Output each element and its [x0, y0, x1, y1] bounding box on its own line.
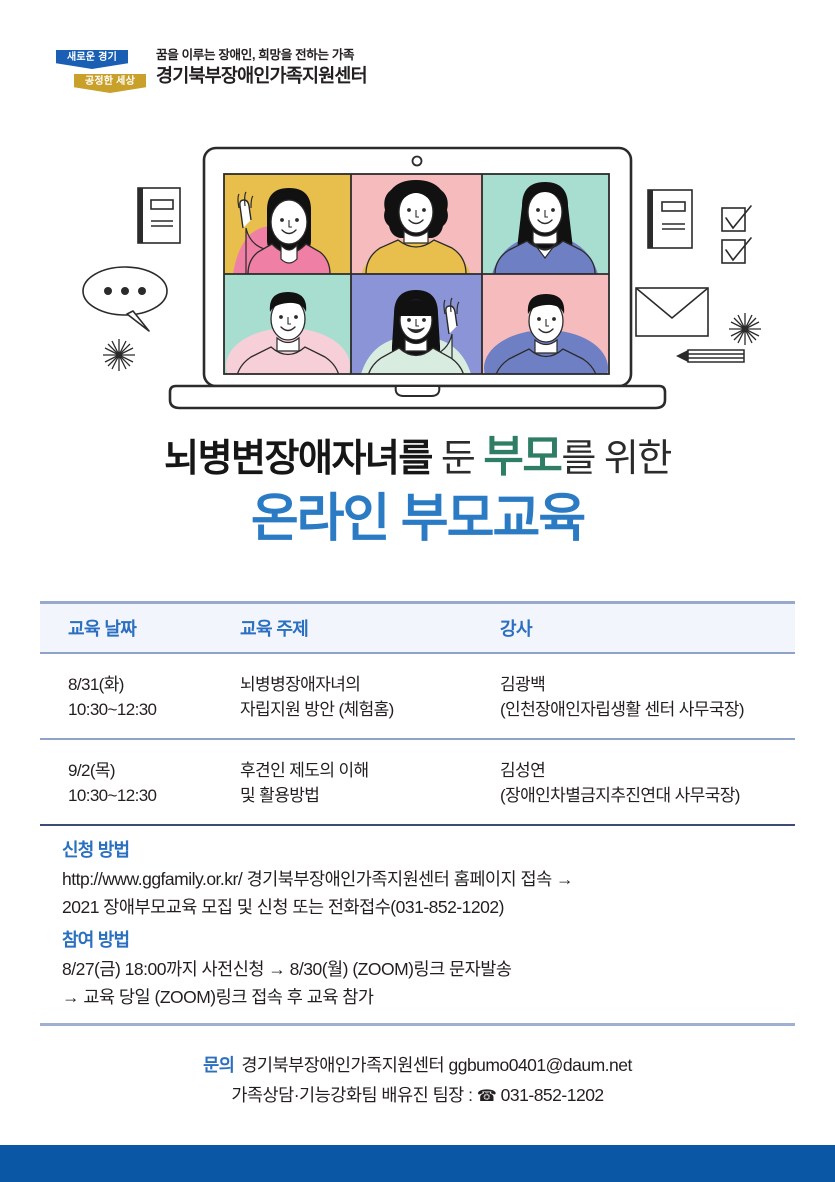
poster-root: 새로운 경기 공정한 세상 꿈을 이루는 장애인, 희망을 전하는 가족 경기북…: [0, 0, 835, 1182]
contact-phone-number: 031-852-1202: [496, 1085, 603, 1105]
contact-line-1: 문의경기북부장애인가족지원센터 ggbumo0401@daum.net: [0, 1050, 835, 1080]
telephone-icon: ☎: [477, 1088, 496, 1105]
join-method-line-2: → 교육 당일 (ZOOM)링크 접속 후 교육 참가: [62, 983, 802, 1011]
date-line-1: 8/31(화): [68, 672, 240, 697]
bottom-accent-bar: [0, 1145, 835, 1182]
title-segment-highlight: 부모: [483, 432, 561, 481]
sparkle-icon: [729, 313, 761, 345]
topic-line-2: 자립지원 방안 (체험홈): [240, 697, 500, 722]
video-call-illustration: [0, 128, 835, 413]
tutor-line-1: 김광백: [500, 672, 795, 697]
topic-line-1: 뇌병병장애자녀의: [240, 672, 500, 697]
tutor-line-1: 김성연: [500, 758, 795, 783]
table-header-date: 교육 날짜: [40, 615, 240, 641]
checkbox-checked-icon: [722, 206, 751, 231]
contact-label: 문의: [203, 1055, 234, 1075]
header-center-name: 경기북부장애인가족지원센터: [156, 64, 367, 88]
video-tile-1: [224, 174, 351, 274]
gyeonggi-logo-mark: 새로운 경기 공정한 세상: [56, 48, 148, 100]
title-segment-bold: 뇌병변장애자녀를: [164, 438, 441, 480]
tutor-line-2: (장애인차별금지추진연대 사무국장): [500, 783, 795, 808]
video-tile-grid: [224, 174, 609, 406]
table-cell-date: 9/2(목) 10:30~12:30: [40, 758, 240, 808]
checkbox-checked-icon: [722, 238, 751, 263]
table-header-topic: 교육 주제: [240, 615, 500, 641]
video-tile-2: [351, 174, 482, 274]
table-cell-topic: 후견인 제도의 이해 및 활용방법: [240, 758, 500, 808]
table-header-tutor: 강사: [500, 615, 795, 641]
title-line-1: 뇌병변장애자녀를 둔 부모를 위한: [0, 432, 835, 484]
join-method-heading: 참여 방법: [62, 928, 802, 952]
title-segment-thin-1: 둔: [441, 438, 484, 480]
topic-line-1: 후견인 제도의 이해: [240, 758, 500, 783]
header-text-block: 꿈을 이루는 장애인, 희망을 전하는 가족 경기북부장애인가족지원센터: [156, 46, 367, 88]
laptop-illustration: [170, 148, 665, 408]
video-tile-3: [482, 174, 609, 274]
table-header-row: 교육 날짜 교육 주제 강사: [40, 604, 795, 652]
join-method-line-1: 8/27(금) 18:00까지 사전신청 → 8/30(월) (ZOOM)링크 …: [62, 955, 802, 983]
table-cell-topic: 뇌병병장애자녀의 자립지원 방안 (체험홈): [240, 672, 500, 722]
date-line-1: 9/2(목): [68, 758, 240, 783]
poster-title-block: 뇌병변장애자녀를 둔 부모를 위한 온라인 부모교육: [0, 432, 835, 552]
header-tagline: 꿈을 이루는 장애인, 희망을 전하는 가족: [156, 47, 367, 63]
apply-method-heading: 신청 방법: [62, 838, 802, 862]
notebook-icon: [138, 188, 180, 243]
tutor-line-2: (인천장애인자립생활 센터 사무국장): [500, 697, 795, 722]
header-logo-block: 새로운 경기 공정한 세상 꿈을 이루는 장애인, 희망을 전하는 가족 경기북…: [56, 46, 367, 100]
notebook-icon: [648, 190, 692, 248]
schedule-table: 교육 날짜 교육 주제 강사 8/31(화) 10:30~12:30 뇌병병장애…: [40, 601, 795, 826]
logo-ribbon-fair-world: 공정한 세상: [74, 74, 146, 93]
table-cell-tutor: 김광백 (인천장애인자립생활 센터 사무국장): [500, 672, 795, 722]
apply-method-line-1: http://www.ggfamily.or.kr/ 경기북부장애인가족지원센터…: [62, 865, 802, 893]
table-cell-tutor: 김성연 (장애인차별금지추진연대 사무국장): [500, 758, 795, 808]
pencil-icon: [676, 350, 744, 362]
contact-divider: [40, 1023, 795, 1026]
table-row: 9/2(목) 10:30~12:30 후견인 제도의 이해 및 활용방법 김성연…: [40, 740, 795, 824]
topic-line-2: 및 활용방법: [240, 783, 500, 808]
contact-center-and-email: 경기북부장애인가족지원센터 ggbumo0401@daum.net: [241, 1055, 632, 1075]
date-line-2: 10:30~12:30: [68, 697, 240, 722]
contact-line-2: 가족상담·기능강화팀 배유진 팀장 : ☎ 031-852-1202: [0, 1080, 835, 1112]
envelope-icon: [636, 288, 708, 336]
contact-section: 문의경기북부장애인가족지원센터 ggbumo0401@daum.net 가족상담…: [0, 1050, 835, 1112]
apply-method-section: 신청 방법 http://www.ggfamily.or.kr/ 경기북부장애인…: [62, 838, 802, 921]
join-method-section: 참여 방법 8/27(금) 18:00까지 사전신청 → 8/30(월) (ZO…: [62, 928, 802, 1011]
title-segment-thin-2: 를 위한: [561, 438, 670, 480]
logo-ribbon-new-gyeonggi: 새로운 경기: [56, 50, 128, 69]
date-line-2: 10:30~12:30: [68, 783, 240, 808]
sparkle-icon: [103, 339, 135, 371]
contact-team-person: 가족상담·기능강화팀 배유진 팀장 :: [231, 1085, 477, 1105]
speech-bubble-icon: [83, 267, 167, 331]
table-row: 8/31(화) 10:30~12:30 뇌병병장애자녀의 자립지원 방안 (체험…: [40, 654, 795, 738]
table-cell-date: 8/31(화) 10:30~12:30: [40, 672, 240, 722]
apply-method-line-2: 2021 장애부모교육 모집 및 신청 또는 전화접수(031-852-1202…: [62, 893, 802, 921]
title-line-2: 온라인 부모교육: [0, 486, 835, 552]
video-tile-5: [351, 274, 482, 384]
table-rule-bottom: [40, 824, 795, 826]
